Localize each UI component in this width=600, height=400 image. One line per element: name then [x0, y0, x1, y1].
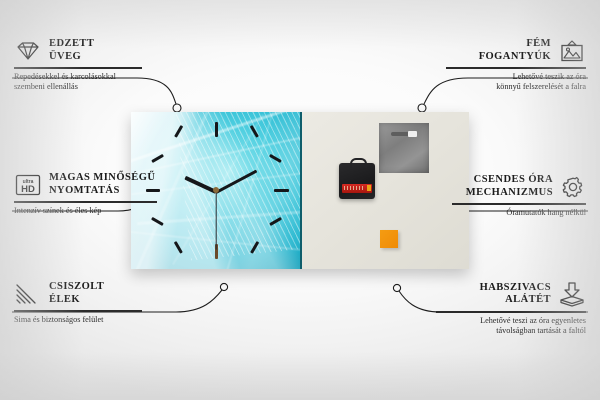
mechanism-shaft [350, 158, 367, 168]
foam-pad-icon [558, 281, 586, 307]
clock-center-pin [213, 187, 219, 193]
callout-title: MAGAS MINŐSÉGŰ NYOMTATÁS [49, 172, 155, 197]
callout-header: ultra HD MAGAS MINŐSÉGŰ NYOMTATÁS [14, 172, 174, 197]
ultra-hd-icon: ultra HD [14, 173, 42, 197]
diamond-icon [14, 40, 42, 62]
callout-title: FÉM FOGANTYÚK [479, 38, 551, 63]
callout-title: EDZETT ÜVEG [49, 38, 94, 63]
quartz-mechanism [339, 163, 375, 199]
callout-header: HABSZIVACS ALÁTÉT [428, 281, 586, 307]
callout-title: HABSZIVACS ALÁTÉT [480, 282, 551, 307]
callout-header: FÉM FOGANTYÚK [432, 38, 586, 63]
foam-pad [380, 230, 398, 248]
polished-edges-icon [14, 282, 42, 306]
battery-label [344, 186, 364, 190]
callout-divider [446, 67, 586, 69]
callout-title: CSISZOLT ÉLEK [49, 281, 104, 306]
callout-high-quality-print[interactable]: ultra HD MAGAS MINŐSÉGŰ NYOMTATÁS Intenz… [14, 172, 174, 216]
callout-description: Sima és biztonságos felület [14, 315, 164, 325]
callout-title: CSENDES ÓRA MECHANIZMUS [466, 174, 553, 199]
callout-divider [14, 201, 157, 203]
callout-description: Intenzív színek és éles kép [14, 206, 174, 216]
infographic-canvas: EDZETT ÜVEG Repedésekkel és karcolásokka… [0, 0, 600, 400]
product-photo-pair [131, 112, 469, 269]
callout-description: Repedésekkel és karcolásokkal szembeni e… [14, 72, 164, 92]
gear-icon [560, 175, 586, 199]
callout-description: Óramutatók hang nélkül [440, 208, 586, 218]
callout-divider [436, 311, 586, 313]
hanger-slot [391, 132, 417, 136]
callout-polished-edges[interactable]: CSISZOLT ÉLEK Sima és biztonságos felüle… [14, 281, 164, 325]
second-hand [215, 192, 216, 250]
hour-marker [274, 189, 289, 192]
callout-header: EDZETT ÜVEG [14, 38, 164, 63]
callout-header: CSENDES ÓRA MECHANIZMUS [440, 174, 586, 199]
callout-divider [452, 203, 586, 205]
callout-silent-mechanism[interactable]: CSENDES ÓRA MECHANIZMUS Óramutatók hang … [440, 174, 586, 218]
svg-text:HD: HD [21, 184, 35, 195]
metal-hanger-plate [379, 123, 429, 173]
callout-header: CSISZOLT ÉLEK [14, 281, 164, 306]
callout-metal-handles[interactable]: FÉM FOGANTYÚK Lehetővé teszik az óra kön… [432, 38, 586, 92]
callout-tempered-glass[interactable]: EDZETT ÜVEG Repedésekkel és karcolásokka… [14, 38, 164, 92]
callout-description: Lehetővé teszi az óra egyenletes távolsá… [428, 316, 586, 336]
callout-divider [14, 67, 142, 69]
callout-description: Lehetővé teszik az óra könnyű felszerelé… [432, 72, 586, 92]
callout-foam-spacer[interactable]: HABSZIVACS ALÁTÉT Lehetővé teszi az óra … [428, 281, 586, 336]
callout-divider [14, 310, 142, 312]
picture-hanger-icon [558, 39, 586, 63]
hour-marker [215, 122, 218, 137]
